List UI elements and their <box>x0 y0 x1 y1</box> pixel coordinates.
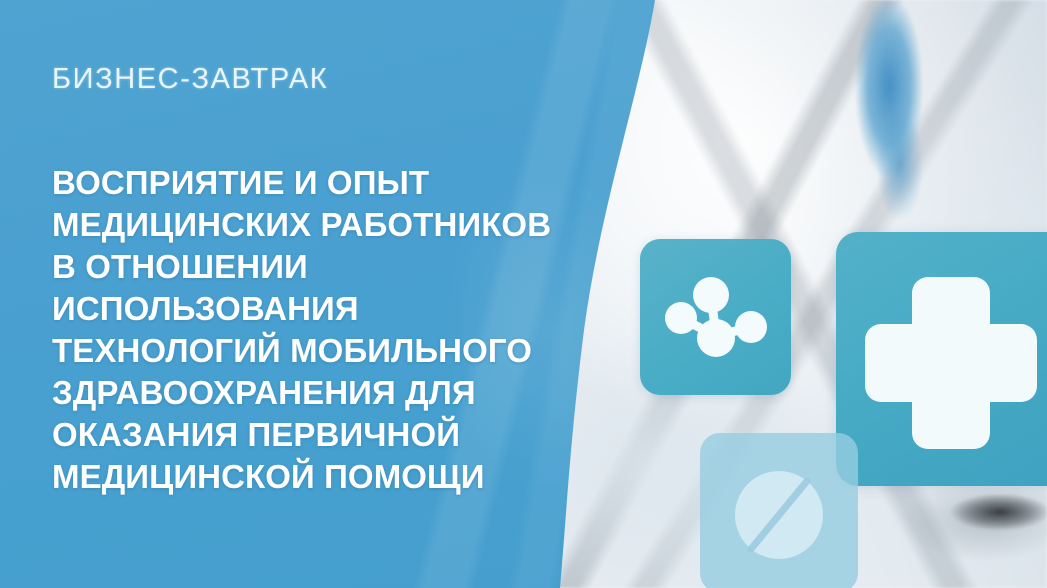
event-kicker: БИЗНЕС-ЗАВТРАК <box>52 63 328 96</box>
event-banner: БИЗНЕС-ЗАВТРАК ВОСПРИЯТИЕ И ОПЫТ МЕДИЦИН… <box>0 0 1047 588</box>
molecule-icon <box>640 239 791 395</box>
medical-cross-icon <box>836 232 1047 486</box>
headline-line: В ОТНОШЕНИИ <box>52 246 652 288</box>
molecule-icon-tile <box>640 239 791 395</box>
pill-tablet-icon <box>700 433 858 588</box>
headline-line: ТЕХНОЛОГИЙ МОБИЛЬНОГО <box>52 330 652 372</box>
headline-line: ВОСПРИЯТИЕ И ОПЫТ <box>52 162 652 204</box>
headline-line: ОКАЗАНИЯ ПЕРВИЧНОЙ <box>52 414 652 456</box>
medical-cross-icon-tile <box>836 232 1047 486</box>
headline-line: МЕДИЦИНСКИХ РАБОТНИКОВ <box>52 204 652 246</box>
page-title: ВОСПРИЯТИЕ И ОПЫТ МЕДИЦИНСКИХ РАБОТНИКОВ… <box>52 162 652 498</box>
headline-line: ИСПОЛЬЗОВАНИЯ <box>52 288 652 330</box>
pill-tablet-icon-tile <box>700 433 858 588</box>
headline-line: МЕДИЦИНСКОЙ ПОМОЩИ <box>52 456 652 498</box>
headline-line: ЗДРАВООХРАНЕНИЯ ДЛЯ <box>52 372 652 414</box>
